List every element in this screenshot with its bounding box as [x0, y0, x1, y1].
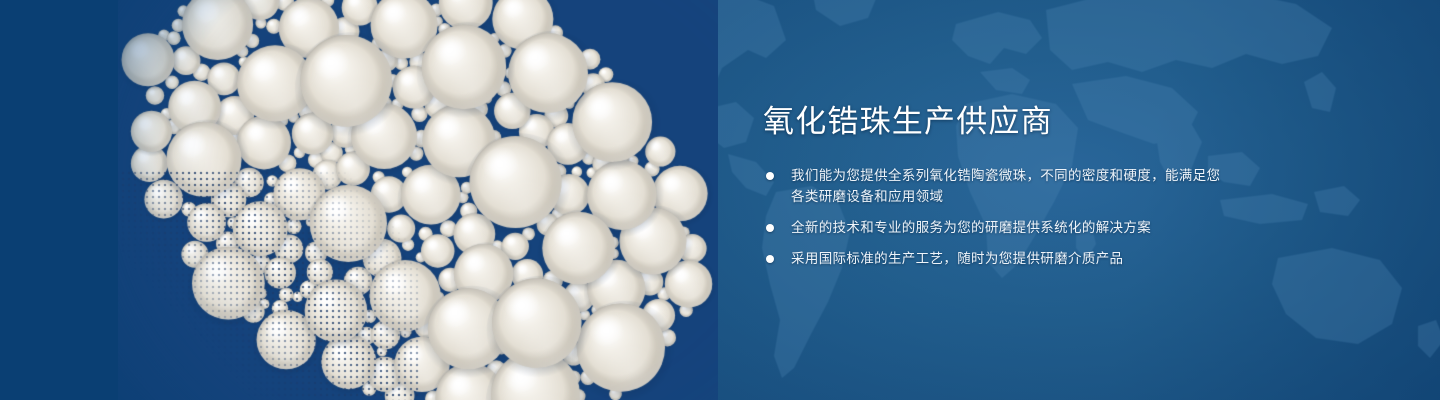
bullet-dot-icon	[766, 224, 774, 232]
bullet-dot-icon	[766, 172, 774, 180]
zirconia-beads-photo	[118, 0, 718, 400]
list-item-label: 我们能为您提供全系列氧化锆陶瓷微珠，不同的密度和硬度，能满足您各类研磨设备和应用…	[791, 165, 1233, 209]
list-item-label: 采用国际标准的生产工艺，随时为您提供研磨介质产品	[791, 248, 1233, 270]
list-item: 全新的技术和专业的服务为您的研磨提供系统化的解决方案	[763, 217, 1233, 239]
page-title: 氧化锆珠生产供应商	[763, 106, 1233, 139]
list-item-label: 全新的技术和专业的服务为您的研磨提供系统化的解决方案	[791, 217, 1233, 239]
banner-copy: 氧化锆珠生产供应商 我们能为您提供全系列氧化锆陶瓷微珠，不同的密度和硬度，能满足…	[763, 106, 1233, 270]
bullet-dot-icon	[766, 255, 774, 263]
hero-banner: 氧化锆珠生产供应商 我们能为您提供全系列氧化锆陶瓷微珠，不同的密度和硬度，能满足…	[0, 0, 1440, 400]
feature-list: 我们能为您提供全系列氧化锆陶瓷微珠，不同的密度和硬度，能满足您各类研磨设备和应用…	[763, 165, 1233, 270]
list-item: 我们能为您提供全系列氧化锆陶瓷微珠，不同的密度和硬度，能满足您各类研磨设备和应用…	[763, 165, 1233, 209]
list-item: 采用国际标准的生产工艺，随时为您提供研磨介质产品	[763, 248, 1233, 270]
bead-cluster-rendering	[118, 0, 718, 400]
